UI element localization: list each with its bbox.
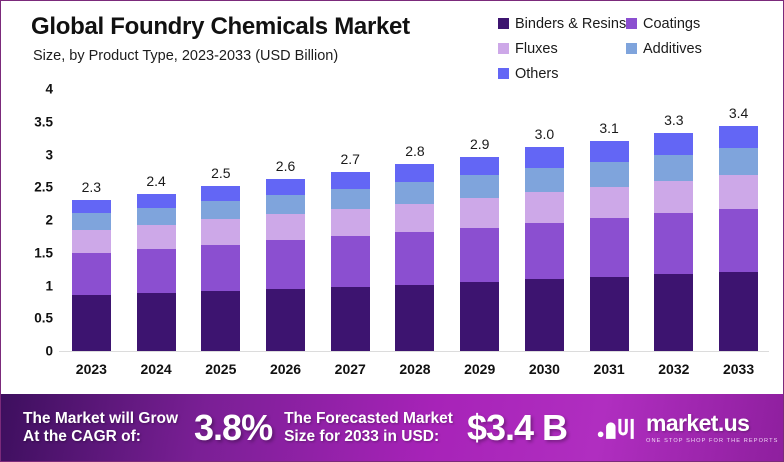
bar-stack (719, 126, 758, 351)
x-axis-labels: 2023202420252026202720282029203020312032… (59, 361, 771, 377)
bar-value-label: 2.6 (276, 158, 295, 174)
bar-column[interactable]: 2.8 (387, 89, 443, 351)
bar-column[interactable]: 2.7 (322, 89, 378, 351)
cagr-value: 3.8% (194, 407, 272, 449)
bar-segment-binders-resins[interactable] (654, 274, 693, 351)
bar-segment-binders-resins[interactable] (395, 285, 434, 351)
bar-segment-fluxes[interactable] (266, 214, 305, 240)
bar-segment-others[interactable] (460, 157, 499, 176)
logo-text-block: market.us ONE STOP SHOP FOR THE REPORTS (646, 412, 778, 444)
bar-segment-others[interactable] (201, 186, 240, 201)
y-axis-tick: 0.5 (13, 311, 53, 326)
market-us-logo[interactable]: market.us ONE STOP SHOP FOR THE REPORTS (597, 412, 778, 444)
bar-segment-additives[interactable] (72, 213, 111, 229)
x-axis-label: 2025 (193, 361, 249, 377)
bar-segment-fluxes[interactable] (201, 219, 240, 245)
bar-segment-coatings[interactable] (719, 209, 758, 272)
forecast-value: $3.4 B (467, 407, 567, 449)
bar-value-label: 3.0 (535, 126, 554, 142)
x-axis-label: 2028 (387, 361, 443, 377)
forecast-label-line2: Size for 2033 in USD: (284, 428, 453, 445)
y-axis-tick: 2 (13, 213, 53, 228)
x-axis-label: 2032 (646, 361, 702, 377)
bar-stack (654, 133, 693, 351)
bar-segment-others[interactable] (395, 164, 434, 182)
cagr-label: The Market will Grow At the CAGR of: (23, 410, 178, 445)
bar-segment-binders-resins[interactable] (590, 277, 629, 351)
bar-segment-fluxes[interactable] (654, 181, 693, 214)
bar-segment-coatings[interactable] (201, 245, 240, 292)
bar-column[interactable]: 2.6 (258, 89, 314, 351)
bar-segment-fluxes[interactable] (72, 230, 111, 253)
bar-segment-fluxes[interactable] (719, 175, 758, 208)
bar-value-label: 2.4 (146, 173, 165, 189)
bar-segment-coatings[interactable] (654, 213, 693, 274)
bar-column[interactable]: 3.4 (711, 89, 767, 351)
bar-column[interactable]: 3.3 (646, 89, 702, 351)
bar-column[interactable]: 2.4 (128, 89, 184, 351)
bar-segment-coatings[interactable] (460, 228, 499, 282)
x-axis-label: 2024 (128, 361, 184, 377)
bar-segment-fluxes[interactable] (395, 204, 434, 233)
summary-banner: The Market will Grow At the CAGR of: 3.8… (1, 394, 784, 461)
bar-stack (525, 147, 564, 351)
y-axis-tick: 2.5 (13, 180, 53, 195)
bar-column[interactable]: 3.0 (516, 89, 572, 351)
bar-segment-others[interactable] (719, 126, 758, 148)
bar-stack (395, 164, 434, 351)
x-axis-label: 2023 (63, 361, 119, 377)
x-axis-label: 2027 (322, 361, 378, 377)
bar-segment-binders-resins[interactable] (137, 293, 176, 351)
bar-stack (590, 141, 629, 351)
bar-stack (201, 186, 240, 351)
bar-stack (72, 200, 111, 351)
bar-segment-others[interactable] (266, 179, 305, 195)
forecast-label-line1: The Forecasted Market (284, 410, 453, 427)
bar-segment-additives[interactable] (266, 195, 305, 214)
bar-segment-fluxes[interactable] (525, 192, 564, 223)
bar-segment-additives[interactable] (137, 208, 176, 225)
chart-plot-area: 00.511.522.533.54 2.32.42.52.62.72.82.93… (1, 1, 784, 393)
y-axis-tick: 4 (13, 82, 53, 97)
bar-segment-additives[interactable] (460, 175, 499, 198)
bar-value-label: 2.3 (82, 179, 101, 195)
bar-stack (460, 157, 499, 352)
bar-segment-coatings[interactable] (395, 232, 434, 284)
bar-value-label: 3.3 (664, 112, 683, 128)
bar-segment-additives[interactable] (201, 201, 240, 219)
bar-segment-others[interactable] (590, 141, 629, 162)
x-axis-label: 2033 (711, 361, 767, 377)
bar-segment-binders-resins[interactable] (460, 282, 499, 351)
x-axis-label: 2029 (452, 361, 508, 377)
logo-name: market.us (646, 412, 778, 435)
bar-segment-coatings[interactable] (331, 236, 370, 286)
bar-segment-additives[interactable] (590, 162, 629, 187)
bar-segment-coatings[interactable] (72, 253, 111, 296)
forecast-label: The Forecasted Market Size for 2033 in U… (284, 410, 453, 445)
bar-segment-fluxes[interactable] (590, 187, 629, 218)
bar-segment-binders-resins[interactable] (266, 289, 305, 351)
bar-value-label: 3.1 (599, 120, 618, 136)
y-axis-tick: 3.5 (13, 114, 53, 129)
bar-segment-others[interactable] (331, 172, 370, 189)
bar-segment-fluxes[interactable] (460, 198, 499, 227)
bar-column[interactable]: 3.1 (581, 89, 637, 351)
bar-segment-additives[interactable] (395, 182, 434, 204)
bar-column[interactable]: 2.3 (63, 89, 119, 351)
y-axis-tick: 0 (13, 344, 53, 359)
bar-stack (331, 172, 370, 351)
bar-segment-coatings[interactable] (137, 249, 176, 294)
bar-segment-others[interactable] (525, 147, 564, 167)
cagr-label-line1: The Market will Grow (23, 410, 178, 427)
bar-value-label: 3.4 (729, 105, 748, 121)
bar-segment-coatings[interactable] (525, 223, 564, 279)
logo-mark-icon (597, 415, 637, 441)
bar-value-label: 2.7 (341, 151, 360, 167)
bar-segment-coatings[interactable] (590, 218, 629, 277)
bar-segment-additives[interactable] (654, 155, 693, 181)
bar-stack (137, 194, 176, 351)
bar-segment-fluxes[interactable] (137, 225, 176, 249)
bar-segment-binders-resins[interactable] (525, 279, 564, 351)
bar-segment-others[interactable] (654, 133, 693, 155)
bar-value-label: 2.8 (405, 143, 424, 159)
bar-segment-binders-resins[interactable] (72, 295, 111, 351)
bar-segment-others[interactable] (72, 200, 111, 213)
y-axis-tick: 1.5 (13, 245, 53, 260)
stacked-bar-group: 2.32.42.52.62.72.82.93.03.13.33.4 (59, 89, 771, 351)
chart-infographic: Global Foundry Chemicals Market Size, by… (0, 0, 784, 462)
y-axis-tick: 3 (13, 147, 53, 162)
x-axis-label: 2026 (258, 361, 314, 377)
bar-value-label: 2.5 (211, 165, 230, 181)
bar-segment-binders-resins[interactable] (201, 291, 240, 351)
bar-column[interactable]: 2.5 (193, 89, 249, 351)
bar-segment-additives[interactable] (331, 189, 370, 209)
bar-segment-binders-resins[interactable] (331, 287, 370, 351)
bar-segment-others[interactable] (137, 194, 176, 208)
bar-column[interactable]: 2.9 (452, 89, 508, 351)
bar-segment-fluxes[interactable] (331, 209, 370, 237)
bar-segment-additives[interactable] (525, 168, 564, 192)
bar-value-label: 2.9 (470, 136, 489, 152)
logo-tagline: ONE STOP SHOP FOR THE REPORTS (646, 438, 778, 444)
x-axis-baseline (59, 351, 769, 352)
x-axis-label: 2030 (516, 361, 572, 377)
cagr-label-line2: At the CAGR of: (23, 428, 178, 445)
bar-stack (266, 179, 305, 351)
y-axis-tick: 1 (13, 278, 53, 293)
bar-segment-additives[interactable] (719, 148, 758, 176)
bar-segment-binders-resins[interactable] (719, 272, 758, 351)
bar-segment-coatings[interactable] (266, 240, 305, 289)
x-axis-label: 2031 (581, 361, 637, 377)
